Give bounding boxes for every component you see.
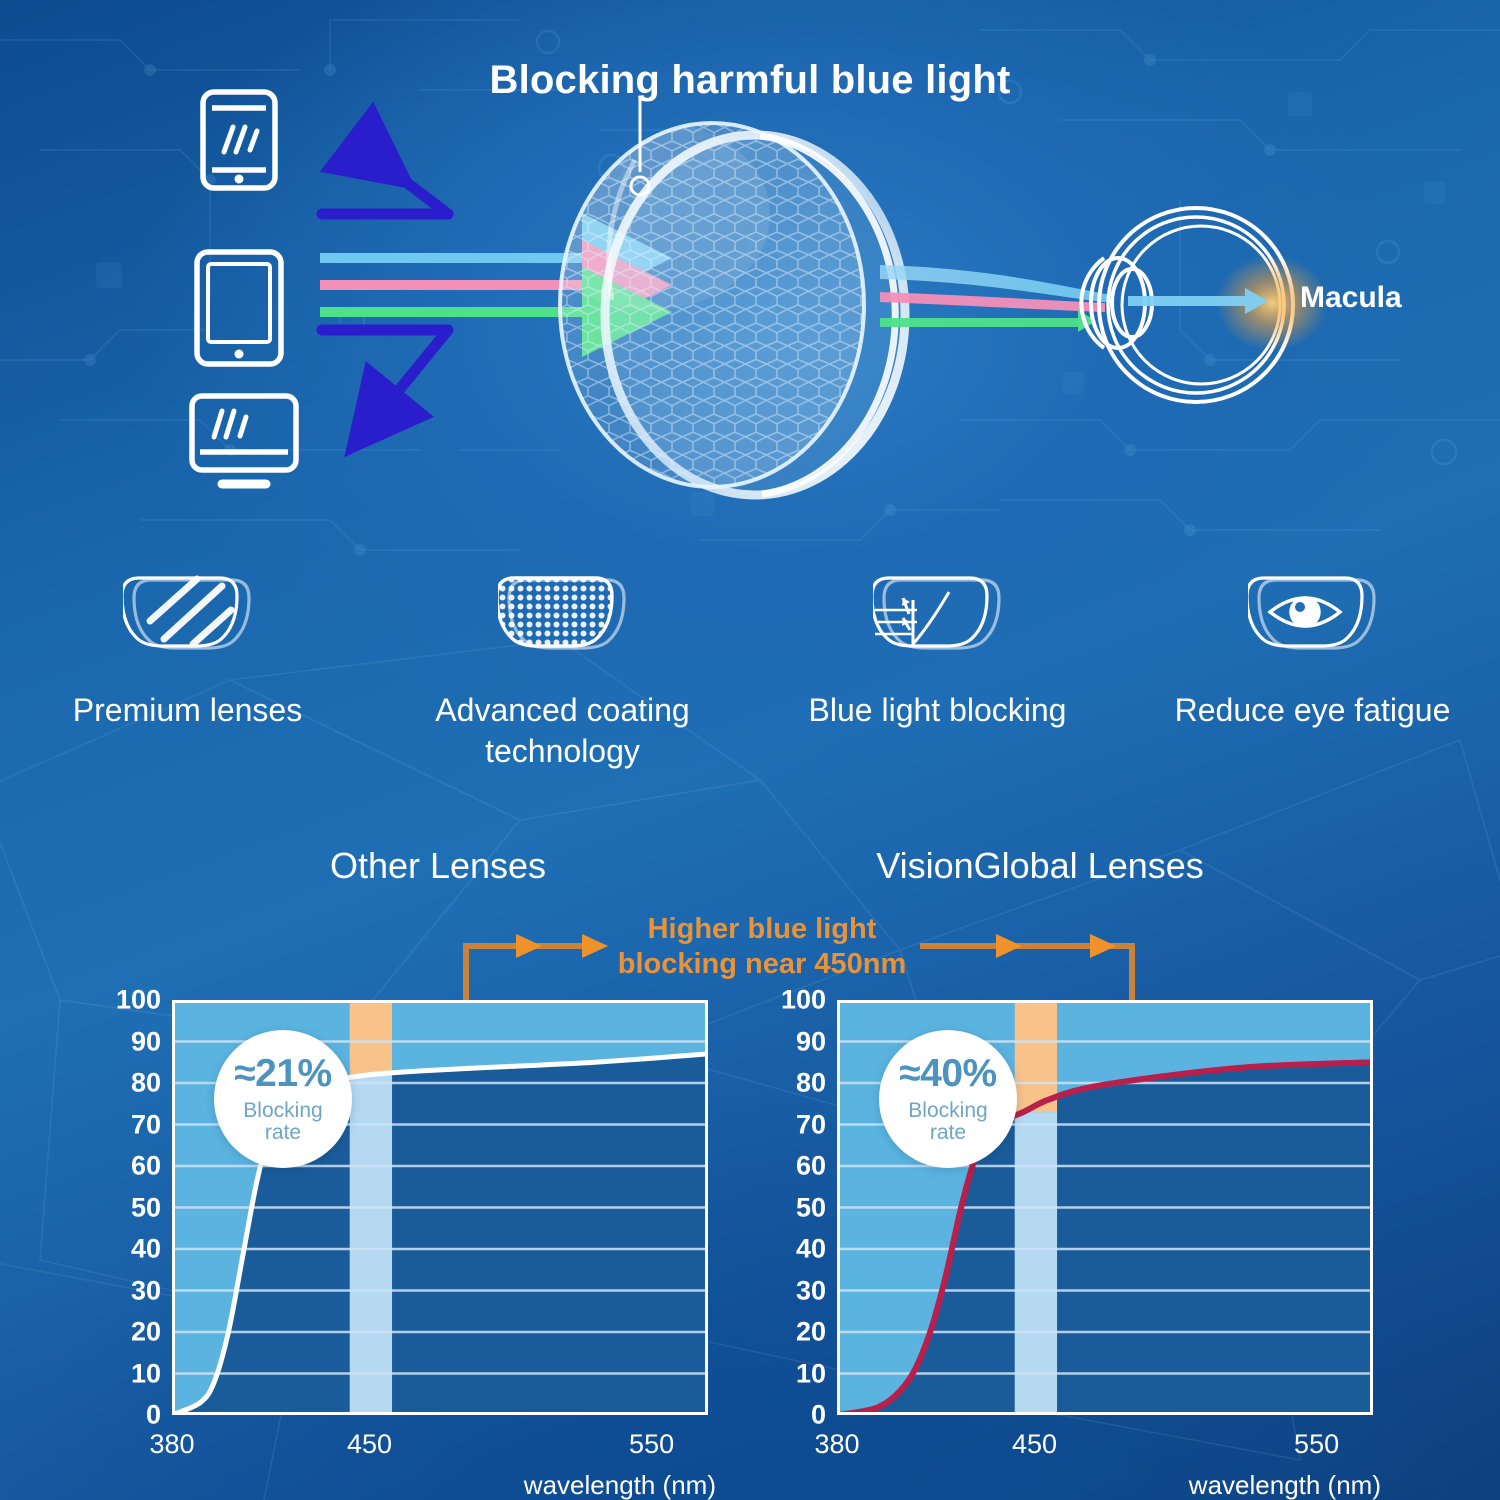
blocking-rate-badge-right: ≈40% Blocking rate bbox=[879, 1030, 1017, 1168]
feature-label: Blue light blocking bbox=[773, 690, 1103, 731]
y-axis-tick: 0 bbox=[764, 1400, 826, 1431]
y-axis-tick: 70 bbox=[764, 1109, 826, 1140]
y-axis-tick: 60 bbox=[764, 1151, 826, 1182]
x-axis-tick: 380 bbox=[149, 1429, 194, 1460]
hero-section: Blocking harmful blue light bbox=[0, 0, 1500, 540]
blocking-rate-badge-left: ≈21% Blocking rate bbox=[214, 1030, 352, 1168]
y-axis-tick: 60 bbox=[99, 1151, 161, 1182]
lens-honeycomb-icon bbox=[498, 566, 628, 658]
y-axis-tick: 50 bbox=[99, 1192, 161, 1223]
reflected-blue-rays bbox=[322, 150, 448, 406]
feature-label: Reduce eye fatigue bbox=[1148, 690, 1478, 731]
macula-label: Macula bbox=[1300, 281, 1402, 315]
y-axis-tick: 90 bbox=[764, 1026, 826, 1057]
feature-label: Advanced coating technology bbox=[398, 690, 728, 772]
x-axis-tick: 550 bbox=[1294, 1429, 1339, 1460]
x-axis-tick: 380 bbox=[814, 1429, 859, 1460]
x-axis-title-left: wavelength (nm) bbox=[524, 1470, 716, 1500]
lens-deflect-icon bbox=[873, 566, 1003, 658]
y-axis-tick: 80 bbox=[99, 1068, 161, 1099]
y-axis-tick: 20 bbox=[99, 1317, 161, 1348]
y-axis-tick: 40 bbox=[99, 1234, 161, 1265]
y-axis-tick: 100 bbox=[99, 985, 161, 1016]
y-axis-tick: 20 bbox=[764, 1317, 826, 1348]
monitor-icon bbox=[192, 396, 296, 484]
y-axis-tick: 30 bbox=[99, 1275, 161, 1306]
y-axis-tick: 0 bbox=[99, 1400, 161, 1431]
feature-advanced-coating: Advanced coating technology bbox=[375, 566, 750, 772]
tablet-icon bbox=[197, 252, 281, 364]
chart-other-lenses: ≈21% Blocking rate 010203040506070809010… bbox=[172, 1000, 708, 1415]
x-axis-tick: 450 bbox=[347, 1429, 392, 1460]
blocking-rate-value: ≈21% bbox=[234, 1054, 331, 1093]
x-axis-tick: 550 bbox=[629, 1429, 674, 1460]
outgoing-light-beams bbox=[880, 265, 1112, 332]
smartphone-icon bbox=[203, 92, 275, 188]
y-axis-tick: 40 bbox=[764, 1234, 826, 1265]
y-axis-tick: 10 bbox=[764, 1358, 826, 1389]
blocking-rate-value: ≈40% bbox=[899, 1054, 996, 1093]
hero-diagram bbox=[0, 0, 1500, 540]
feature-label: Premium lenses bbox=[23, 690, 353, 731]
y-axis-tick: 50 bbox=[764, 1192, 826, 1223]
infographic-root: Blocking harmful blue light bbox=[0, 0, 1500, 1500]
y-axis-tick: 10 bbox=[99, 1358, 161, 1389]
x-axis-title-right: wavelength (nm) bbox=[1189, 1470, 1381, 1500]
y-axis-tick: 80 bbox=[764, 1068, 826, 1099]
honeycomb-lens-icon bbox=[530, 120, 905, 495]
y-axis-tick: 90 bbox=[99, 1026, 161, 1057]
lens-shine-icon bbox=[123, 566, 253, 658]
chart-title-other-lenses: Other Lenses bbox=[188, 845, 688, 887]
feature-reduce-eye-fatigue: Reduce eye fatigue bbox=[1125, 566, 1500, 731]
feature-row: Premium lenses bbox=[0, 566, 1500, 796]
chart-visionglobal-lenses: ≈40% Blocking rate 010203040506070809010… bbox=[837, 1000, 1373, 1415]
feature-blue-light-blocking: Blue light blocking bbox=[750, 566, 1125, 731]
y-axis-tick: 70 bbox=[99, 1109, 161, 1140]
y-axis-tick: 30 bbox=[764, 1275, 826, 1306]
lens-eye-icon bbox=[1248, 566, 1378, 658]
y-axis-tick: 100 bbox=[764, 985, 826, 1016]
x-axis-tick: 450 bbox=[1012, 1429, 1057, 1460]
chart-title-visionglobal-lenses: VisionGlobal Lenses bbox=[790, 845, 1290, 887]
feature-premium-lenses: Premium lenses bbox=[0, 566, 375, 731]
blocking-rate-label: Blocking rate bbox=[908, 1100, 987, 1144]
blocking-rate-label: Blocking rate bbox=[243, 1100, 322, 1144]
